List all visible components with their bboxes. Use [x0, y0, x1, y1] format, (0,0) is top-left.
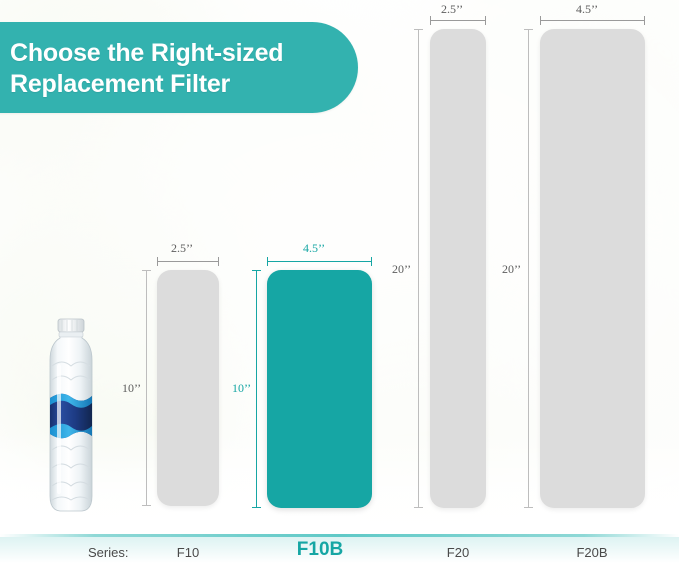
dim-label-height-f20b: 20’’: [502, 262, 521, 277]
series-label-f10b[interactable]: F10B: [297, 539, 343, 561]
dim-label-width-f10b: 4.5’’: [303, 241, 325, 256]
header-banner: Choose the Right-sized Replacement Filte…: [0, 22, 358, 113]
dim-line-width-f10b: [267, 261, 372, 262]
banner-title: Choose the Right-sized Replacement Filte…: [10, 38, 340, 99]
series-legend-row: Series: F10 F10B F20 F20B: [0, 537, 679, 571]
series-label-f20b[interactable]: F20B: [576, 545, 607, 560]
series-label-f10[interactable]: F10: [177, 545, 199, 560]
dim-label-width-f20b: 4.5’’: [576, 2, 598, 17]
dim-line-height-f10: [146, 270, 147, 506]
dim-label-height-f20: 20’’: [392, 262, 411, 277]
filter-body-f20b[interactable]: [540, 29, 645, 508]
dim-line-width-f20: [430, 20, 486, 21]
dim-label-height-f10b: 10’’: [232, 381, 251, 396]
dim-line-height-f20: [418, 29, 419, 508]
banner-title-line2: Replacement Filter: [10, 69, 340, 100]
infographic-canvas: Choose the Right-sized Replacement Filte…: [0, 0, 679, 571]
series-caption: Series:: [88, 545, 128, 560]
series-label-f20[interactable]: F20: [447, 545, 469, 560]
dim-label-width-f20: 2.5’’: [441, 2, 463, 17]
banner-title-line1: Choose the Right-sized: [10, 38, 340, 69]
dim-label-width-f10: 2.5’’: [171, 241, 193, 256]
dim-line-height-f10b: [256, 270, 257, 508]
dim-line-width-f10: [157, 261, 219, 262]
dim-line-height-f20b: [528, 29, 529, 508]
filter-body-f20[interactable]: [430, 29, 486, 508]
water-bottle-reference: [40, 318, 102, 514]
dim-line-width-f20b: [540, 20, 645, 21]
filter-body-f10b[interactable]: [267, 270, 372, 508]
filter-body-f10[interactable]: [157, 270, 219, 506]
dim-label-height-f10: 10’’: [122, 381, 141, 396]
